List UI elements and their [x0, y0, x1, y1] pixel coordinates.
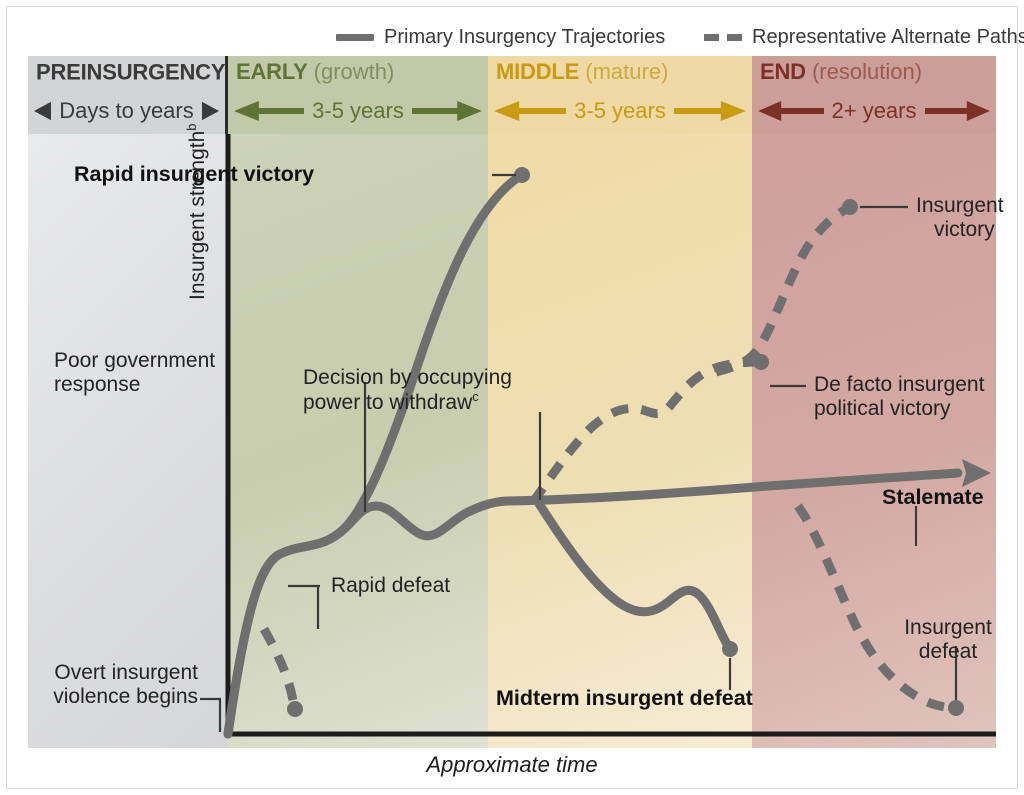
- phase-end: END (resolution) 2+ years: [752, 56, 996, 134]
- phase-keyword-end: END: [760, 59, 806, 84]
- curve-midterm-insurgent-defeat: [538, 502, 728, 646]
- phase-duration-early: 3-5 years: [228, 90, 488, 132]
- curve-de-facto-political-victory: [533, 362, 760, 502]
- phase-title-middle: MIDDLE (mature): [496, 59, 668, 85]
- leader-overt-violence: [200, 699, 220, 732]
- phase-title-preinsurgency: PREINSURGENCYa: [36, 59, 228, 85]
- phase-header-band: PREINSURGENCYa Days to years EARLY (grow…: [28, 56, 996, 134]
- phase-middle: MIDDLE (mature) 3-5 years: [488, 56, 752, 134]
- curve-rapid-insurgent-victory: [228, 176, 520, 734]
- y-axis-title: Insurgent strengthb: [184, 270, 210, 300]
- phase-preinsurgency: PREINSURGENCYa Days to years: [28, 56, 228, 134]
- phase-qualifier-early: (growth): [314, 59, 395, 84]
- endpoint-de-facto-political-victory: [753, 354, 769, 370]
- x-axis-title: Approximate time: [0, 752, 1024, 778]
- label-poor-government-response-line2: response: [54, 373, 140, 396]
- label-insurgent-victory-line2: victory: [934, 218, 995, 242]
- endpoint-insurgent-defeat: [948, 700, 964, 716]
- phase-qualifier-middle: (mature): [585, 59, 668, 84]
- phase-keyword-middle: MIDDLE: [496, 59, 579, 84]
- y-axis-title-text: Insurgent strength: [186, 131, 209, 300]
- label-poor-government-response-line1: Poor government: [54, 349, 215, 372]
- label-decision-to-withdraw-line1: Decision by occupying: [303, 366, 512, 389]
- endpoint-rapid-defeat: [287, 701, 303, 717]
- legend-item-alternate: Representative Alternate Paths: [704, 26, 1024, 49]
- label-insurgent-defeat-line2: defeat: [919, 640, 977, 663]
- phase-duration-label-early: 3-5 years: [304, 98, 412, 124]
- endpoint-insurgent-victory: [842, 199, 858, 215]
- chart-legend: Primary Insurgency Trajectories Represen…: [0, 26, 1024, 56]
- label-insurgent-defeat-line1: Insurgent: [904, 616, 992, 639]
- endpoint-midterm-insurgent-defeat: [722, 641, 738, 657]
- label-de-facto-political-victory: De facto insurgent political victory: [814, 373, 984, 420]
- label-insurgent-victory-line1: Insurgent: [916, 194, 1004, 217]
- legend-label-alternate: Representative Alternate Paths: [752, 26, 1024, 49]
- label-de-facto-line2: political victory: [814, 397, 951, 420]
- phase-early: EARLY (growth) 3-5 years: [228, 56, 488, 134]
- label-overt-violence-line1: Overt insurgent: [54, 661, 198, 684]
- label-insurgent-defeat: Insurgent defeat: [898, 616, 998, 663]
- annotation-leader-lines: [200, 175, 956, 732]
- legend-solid-line-icon: [336, 34, 374, 41]
- phase-duration-label-middle: 3-5 years: [566, 98, 674, 124]
- legend-dashed-line-icon: [704, 34, 742, 41]
- phase-duration-label-end: 2+ years: [824, 98, 925, 124]
- label-midterm-insurgent-defeat: Midterm insurgent defeat: [496, 686, 753, 710]
- plot-area: Rapid insurgent victory Poor government …: [28, 134, 996, 748]
- label-de-facto-line1: De facto insurgent: [814, 373, 984, 396]
- trajectory-curves: [28, 134, 996, 748]
- label-poor-government-response: Poor government response: [54, 349, 215, 396]
- label-stalemate: Stalemate: [882, 485, 984, 509]
- phase-keyword-early: EARLY: [236, 59, 308, 84]
- phase-qualifier-end: (resolution): [812, 59, 922, 84]
- phase-title-end: END (resolution): [760, 59, 922, 85]
- stalemate-arrow-icon: [962, 459, 991, 487]
- phase-duration-end: 2+ years: [752, 90, 996, 132]
- legend-label-primary: Primary Insurgency Trajectories: [384, 26, 665, 49]
- phase-keyword-preinsurgency: PREINSURGENCY: [36, 59, 225, 84]
- chart-page: Primary Insurgency Trajectories Represen…: [0, 0, 1024, 795]
- label-overt-violence-line2: violence begins: [53, 685, 198, 708]
- label-decision-to-withdraw: Decision by occupying power to withdrawc: [303, 366, 512, 414]
- label-insurgent-victory: Insurgent victory: [916, 194, 1004, 241]
- label-overt-violence-begins: Overt insurgent violence begins: [28, 661, 198, 708]
- curve-rapid-defeat: [264, 629, 294, 706]
- label-decision-to-withdraw-line2: power to withdraw: [303, 391, 472, 414]
- legend-item-primary: Primary Insurgency Trajectories: [336, 26, 665, 49]
- phase-title-early: EARLY (growth): [236, 59, 394, 85]
- label-decision-superscript-c: c: [472, 389, 479, 404]
- curve-insurgent-defeat: [798, 506, 953, 708]
- phase-duration-middle: 3-5 years: [488, 90, 752, 132]
- endpoint-rapid-insurgent-victory: [514, 167, 530, 183]
- label-rapid-defeat: Rapid defeat: [331, 574, 450, 598]
- y-axis-superscript-b: b: [184, 123, 199, 130]
- curve-insurgent-victory: [716, 208, 848, 372]
- phase-duration-label-preinsurgency: Days to years: [51, 98, 202, 124]
